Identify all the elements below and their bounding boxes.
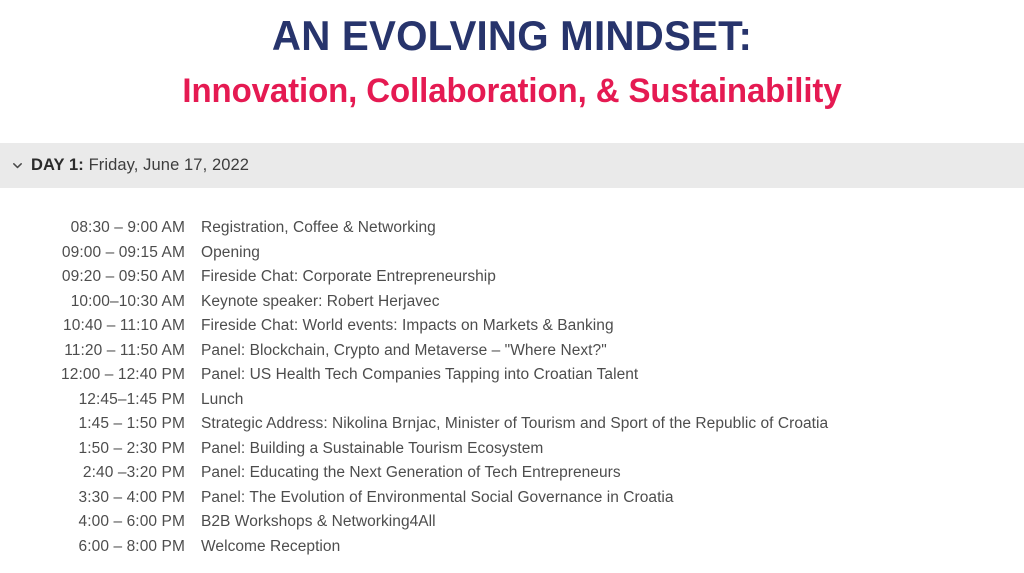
schedule-time: 08:30 – 9:00 AM <box>0 219 185 237</box>
schedule-description: Panel: Educating the Next Generation of … <box>201 464 621 482</box>
day-header-bar[interactable]: DAY 1: Friday, June 17, 2022 <box>0 143 1024 188</box>
schedule-description: Welcome Reception <box>201 538 340 556</box>
schedule-row: 12:45–1:45 PMLunch <box>0 391 1024 416</box>
schedule-time: 10:00–10:30 AM <box>0 293 185 311</box>
day-number-label: DAY 1: <box>31 156 89 174</box>
schedule-description: Strategic Address: Nikolina Brnjac, Mini… <box>201 415 828 433</box>
schedule-time: 12:45–1:45 PM <box>0 391 185 409</box>
chevron-down-icon[interactable] <box>3 159 31 172</box>
schedule-description: Fireside Chat: Corporate Entrepreneurshi… <box>201 268 496 286</box>
schedule-time: 6:00 – 8:00 PM <box>0 538 185 556</box>
schedule-time: 4:00 – 6:00 PM <box>0 513 185 531</box>
schedule-row: 11:20 – 11:50 AMPanel: Blockchain, Crypt… <box>0 342 1024 367</box>
title-block: AN EVOLVING MINDSET: Innovation, Collabo… <box>0 0 1024 112</box>
schedule-row: 08:30 – 9:00 AMRegistration, Coffee & Ne… <box>0 219 1024 244</box>
agenda-page: AN EVOLVING MINDSET: Innovation, Collabo… <box>0 0 1024 573</box>
schedule-time: 09:00 – 09:15 AM <box>0 244 185 262</box>
schedule-row: 1:45 – 1:50 PMStrategic Address: Nikolin… <box>0 415 1024 440</box>
schedule-time: 10:40 – 11:10 AM <box>0 317 185 335</box>
schedule-row: 6:00 – 8:00 PMWelcome Reception <box>0 538 1024 563</box>
schedule-time: 2:40 –3:20 PM <box>0 464 185 482</box>
day-date-label: Friday, June 17, 2022 <box>89 156 249 174</box>
schedule-description: Lunch <box>201 391 243 409</box>
schedule-description: Opening <box>201 244 260 262</box>
schedule-description: Registration, Coffee & Networking <box>201 219 436 237</box>
schedule-row: 09:20 – 09:50 AMFireside Chat: Corporate… <box>0 268 1024 293</box>
page-title: AN EVOLVING MINDSET: <box>20 12 1003 60</box>
day-header-label: DAY 1: Friday, June 17, 2022 <box>31 156 249 175</box>
schedule-description: Panel: Blockchain, Crypto and Metaverse … <box>201 342 607 360</box>
schedule-row: 09:00 – 09:15 AMOpening <box>0 244 1024 269</box>
schedule-description: Keynote speaker: Robert Herjavec <box>201 293 440 311</box>
schedule-time: 1:50 – 2:30 PM <box>0 440 185 458</box>
schedule-time: 09:20 – 09:50 AM <box>0 268 185 286</box>
schedule-time: 12:00 – 12:40 PM <box>0 366 185 384</box>
schedule-description: Panel: US Health Tech Companies Tapping … <box>201 366 638 384</box>
schedule-time: 11:20 – 11:50 AM <box>0 342 185 360</box>
schedule-description: B2B Workshops & Networking4All <box>201 513 436 531</box>
schedule-row: 2:40 –3:20 PMPanel: Educating the Next G… <box>0 464 1024 489</box>
schedule-description: Fireside Chat: World events: Impacts on … <box>201 317 614 335</box>
schedule-row: 3:30 – 4:00 PMPanel: The Evolution of En… <box>0 489 1024 514</box>
schedule-row: 12:00 – 12:40 PMPanel: US Health Tech Co… <box>0 366 1024 391</box>
page-subtitle: Innovation, Collaboration, & Sustainabil… <box>15 70 1008 112</box>
schedule-row: 4:00 – 6:00 PMB2B Workshops & Networking… <box>0 513 1024 538</box>
schedule-description: Panel: Building a Sustainable Tourism Ec… <box>201 440 543 458</box>
schedule-row: 10:00–10:30 AMKeynote speaker: Robert He… <box>0 293 1024 318</box>
schedule-time: 1:45 – 1:50 PM <box>0 415 185 433</box>
schedule-row: 10:40 – 11:10 AMFireside Chat: World eve… <box>0 317 1024 342</box>
schedule-list: 08:30 – 9:00 AMRegistration, Coffee & Ne… <box>0 219 1024 562</box>
schedule-time: 3:30 – 4:00 PM <box>0 489 185 507</box>
schedule-row: 1:50 – 2:30 PMPanel: Building a Sustaina… <box>0 440 1024 465</box>
schedule-description: Panel: The Evolution of Environmental So… <box>201 489 674 507</box>
